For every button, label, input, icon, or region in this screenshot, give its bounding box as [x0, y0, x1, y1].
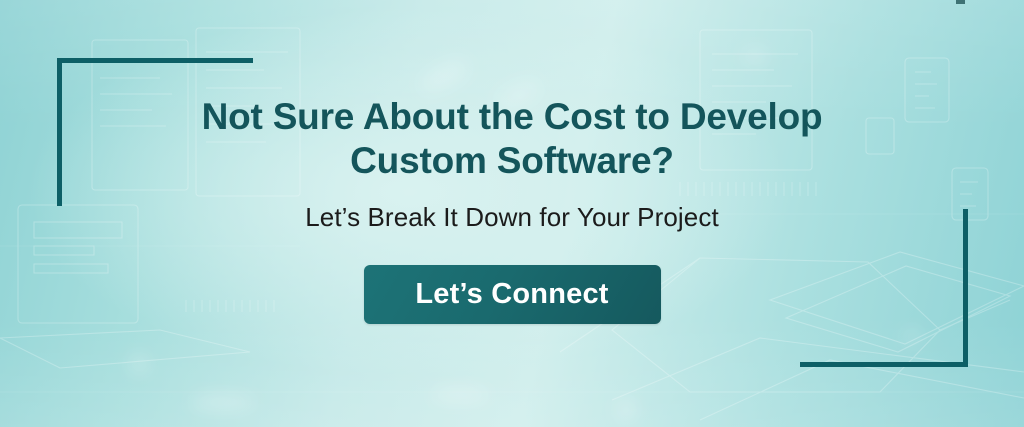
headline-line-1: Not Sure About the Cost to Develop	[202, 95, 823, 139]
cta-banner: Not Sure About the Cost to Develop Custo…	[0, 0, 1024, 427]
banner-content: Not Sure About the Cost to Develop Custo…	[0, 0, 1024, 427]
headline-line-2: Custom Software?	[202, 139, 823, 183]
subheadline: Let’s Break It Down for Your Project	[305, 182, 719, 233]
lets-connect-button[interactable]: Let’s Connect	[364, 265, 661, 324]
headline: Not Sure About the Cost to Develop Custo…	[202, 0, 823, 182]
